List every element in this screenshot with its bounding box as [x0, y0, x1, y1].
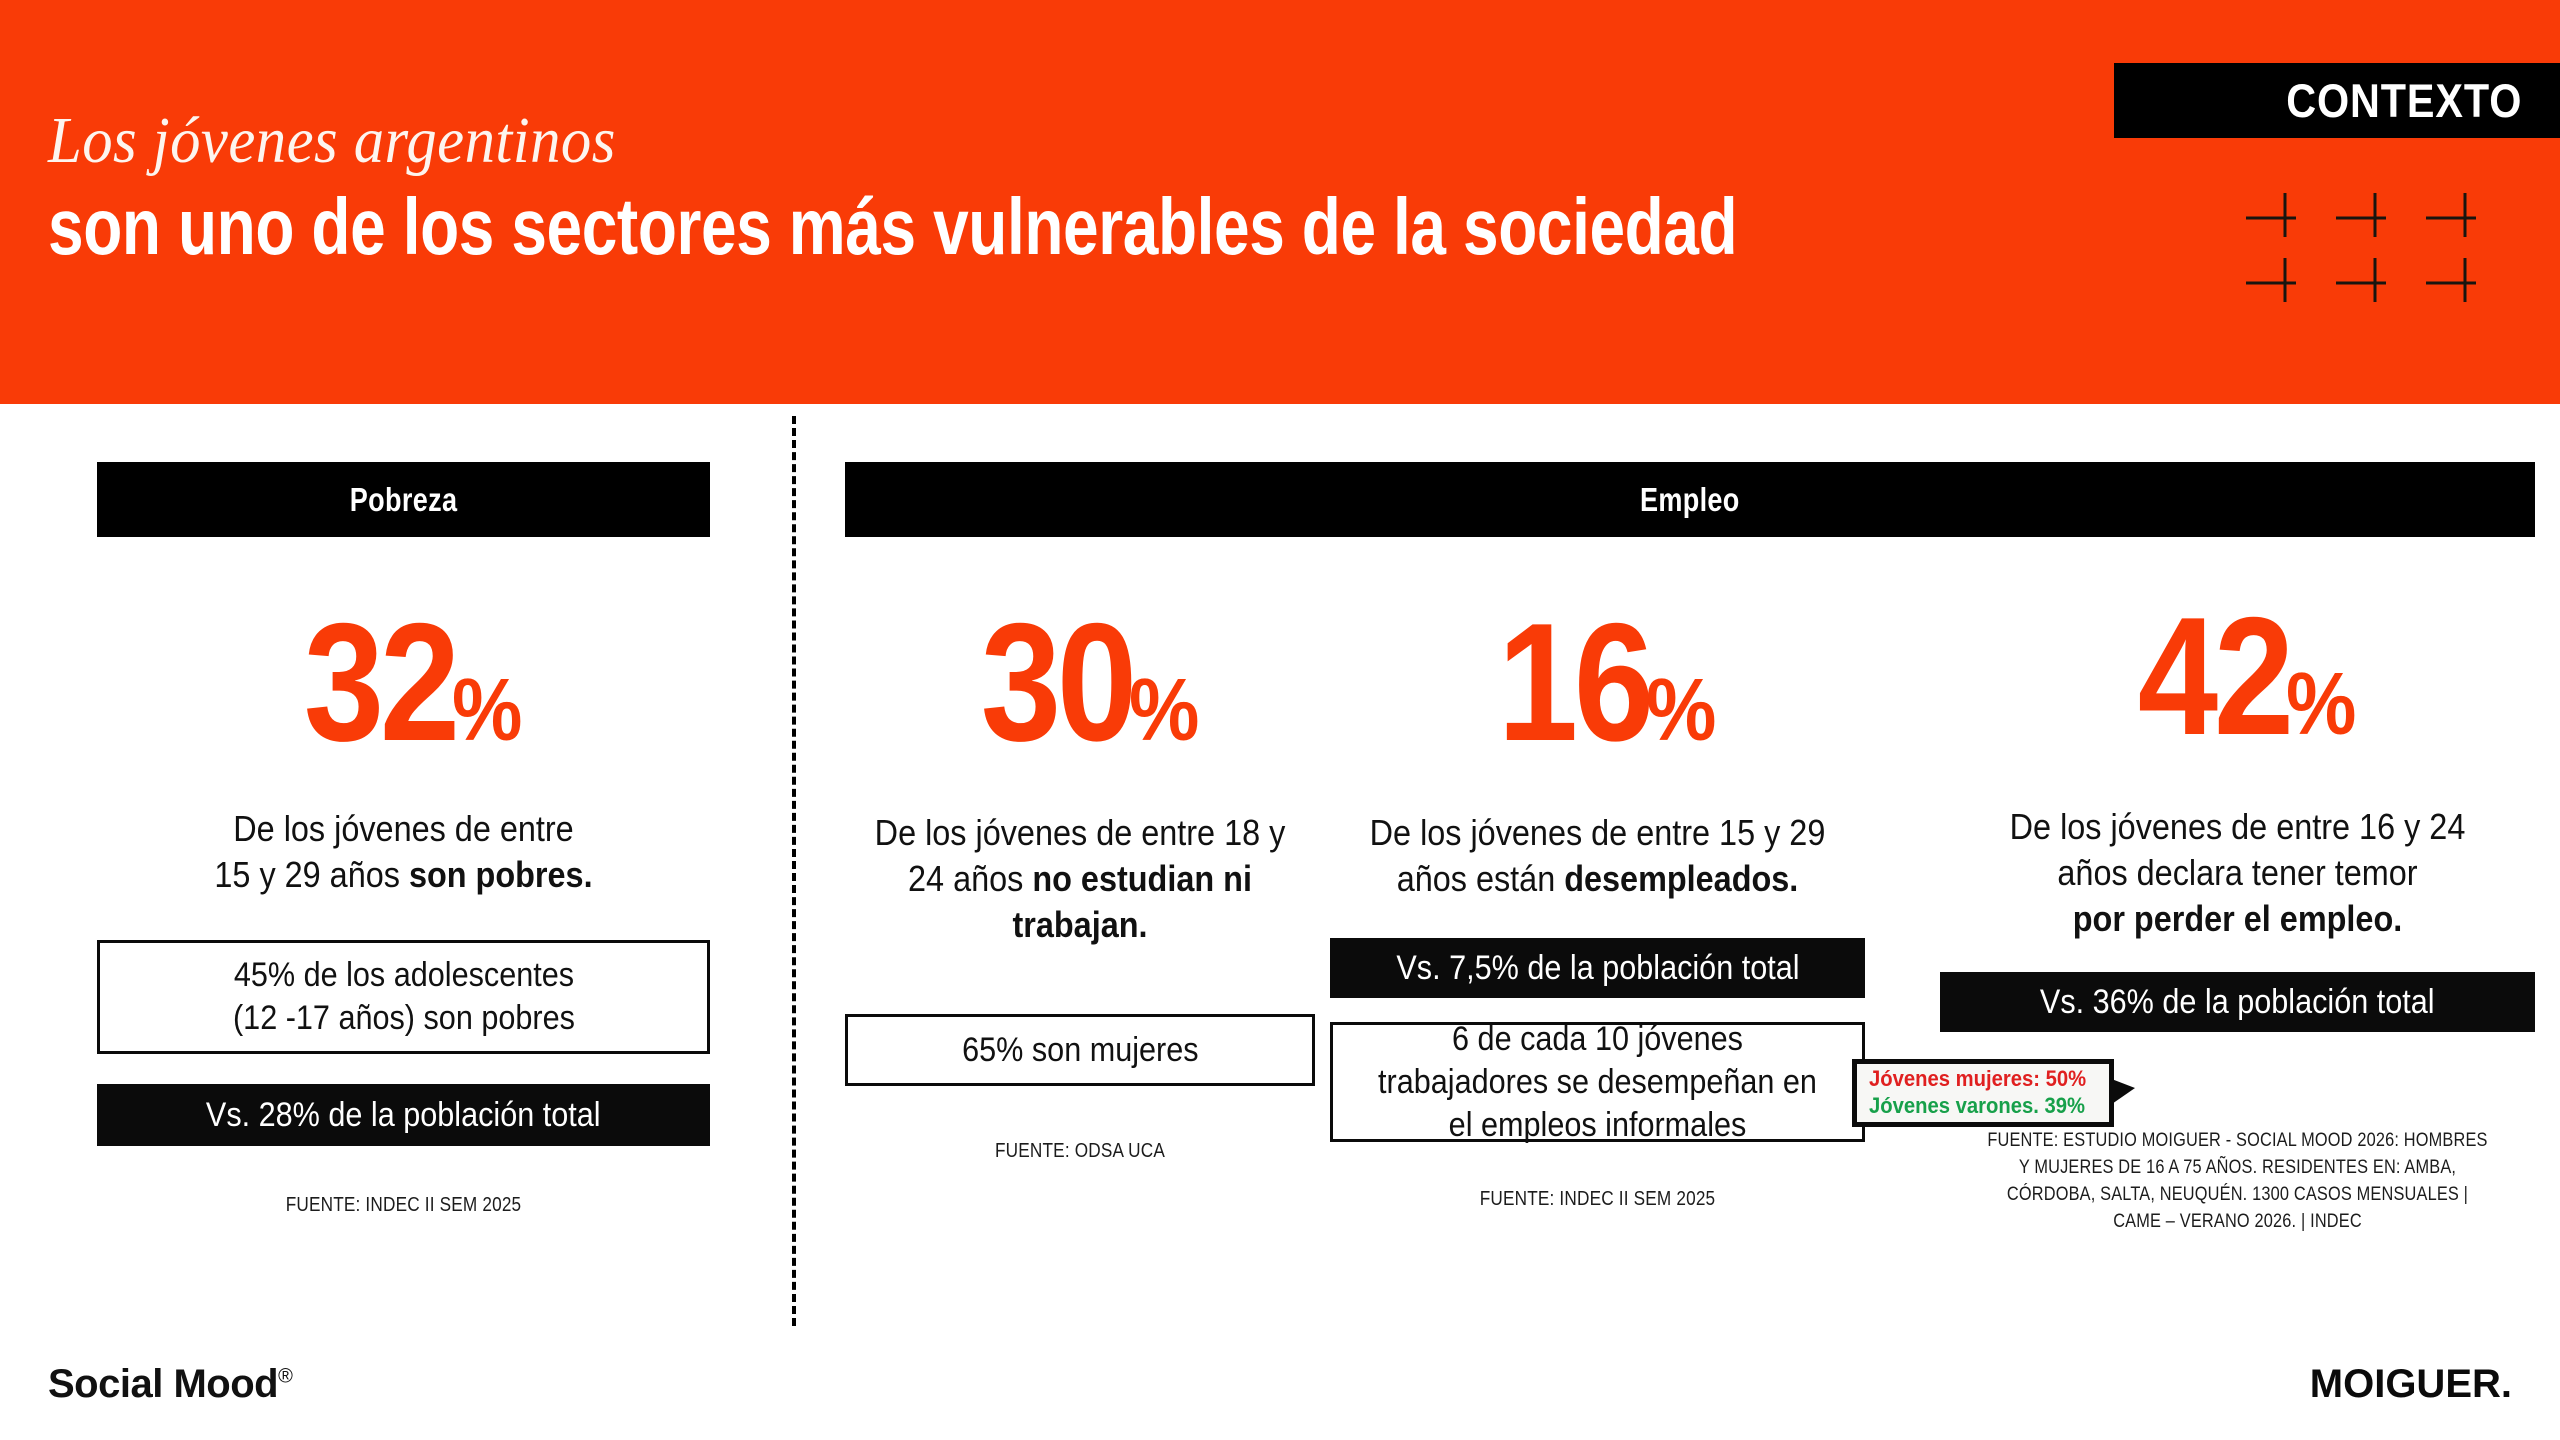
plus-icon	[2330, 250, 2420, 315]
source-note-nini: FUENTE: ODSA UCA	[878, 1138, 1282, 1165]
section-header-pobreza: Pobreza	[97, 462, 710, 537]
comparison-bar-temor-text: Vs. 36% de la población total	[2040, 981, 2435, 1024]
comparison-bar-pobreza: Vs. 28% de la población total	[97, 1084, 710, 1146]
page-title-main: son uno de los sectores más vulnerables …	[48, 188, 1568, 266]
stat-description-pobreza: De los jóvenes de entre 15 y 29 años son…	[128, 806, 680, 898]
plus-icon	[2240, 250, 2330, 315]
stat-number: 32	[304, 598, 456, 766]
callout-box-adolescentes-text: 45% de los adolescentes (12 -17 años) so…	[233, 954, 575, 1040]
callout-box-informales: 6 de cada 10 jóvenes trabajadores se des…	[1330, 1022, 1865, 1142]
stat-description-line2: años están	[1397, 858, 1565, 899]
stat-description-line1: De los jóvenes de entre	[233, 808, 573, 849]
callout-box-informales-text: 6 de cada 10 jóvenes trabajadores se des…	[1374, 1018, 1821, 1146]
comparison-bar-pobreza-text: Vs. 28% de la población total	[206, 1094, 601, 1137]
stat-column-temor: 42% De los jóvenes de entre 16 y 24 años…	[1940, 554, 2535, 1236]
section-header-pobreza-label: Pobreza	[350, 481, 458, 519]
plus-icon	[2420, 250, 2510, 315]
stat-value-nini: 30%	[845, 598, 1315, 766]
section-header-empleo: Empleo	[845, 462, 2535, 537]
stat-description-line1: De los jóvenes de entre 16 y 24	[2010, 806, 2466, 847]
plus-icon	[2420, 185, 2510, 250]
stat-column-desempleo: 16% De los jóvenes de entre 15 y 29 años…	[1330, 554, 1865, 1213]
stat-number: 30	[981, 598, 1133, 766]
stat-value-desempleo: 16%	[1330, 598, 1865, 766]
vertical-dashed-divider	[792, 416, 796, 1326]
stat-value-temor: 42%	[1940, 592, 2535, 760]
stat-description-line2: 24 años	[908, 858, 1032, 899]
registered-trademark-icon: ®	[278, 1366, 292, 1388]
percent-sign: %	[2286, 660, 2354, 748]
source-note-temor: FUENTE: ESTUDIO MOIGUER - SOCIAL MOOD 20…	[1982, 1128, 2494, 1236]
comparison-bar-temor: Vs. 36% de la población total	[1940, 972, 2535, 1032]
comparison-bar-desempleo: Vs. 7,5% de la población total	[1330, 938, 1865, 998]
section-header-empleo-label: Empleo	[1640, 481, 1740, 519]
callout-line-mujeres: Jóvenes mujeres: 50%	[1869, 1066, 2086, 1093]
logo-social-mood-text: Social Mood	[48, 1362, 278, 1406]
stat-description-line1: De los jóvenes de entre 18 y	[875, 812, 1286, 853]
stat-description-line2: 15 y 29 años	[214, 854, 409, 895]
comparison-bar-desempleo-text: Vs. 7,5% de la población total	[1396, 947, 1799, 990]
stat-description-temor: De los jóvenes de entre 16 y 24 años dec…	[1970, 804, 2506, 942]
stat-description-nini: De los jóvenes de entre 18 y 24 años no …	[869, 810, 1292, 948]
stat-description-bold: por perder el empleo.	[2073, 898, 2402, 939]
footer: Social Mood® MOIGUER.	[0, 1340, 2560, 1440]
source-note-desempleo: FUENTE: INDEC II SEM 2025	[1367, 1186, 1827, 1213]
callout-box-adolescentes: 45% de los adolescentes (12 -17 años) so…	[97, 940, 710, 1054]
title-block: Los jóvenes argentinos son uno de los se…	[48, 108, 1948, 266]
stat-column-pobreza: 32% De los jóvenes de entre 15 y 29 años…	[97, 554, 710, 1219]
callout-tail-icon	[2109, 1078, 2135, 1106]
percent-sign: %	[1646, 666, 1714, 754]
stat-description-desempleo: De los jóvenes de entre 15 y 29 años est…	[1357, 810, 1839, 902]
stat-number: 16	[1498, 598, 1650, 766]
stat-description-bold: no estudian ni trabajan.	[1012, 858, 1251, 945]
stat-column-nini: 30% De los jóvenes de entre 18 y 24 años…	[845, 554, 1315, 1165]
percent-sign: %	[1129, 666, 1197, 754]
callout-box-mujeres: 65% son mujeres	[845, 1014, 1315, 1086]
gender-breakdown-callout: Jóvenes mujeres: 50% Jóvenes varones. 39…	[1852, 1059, 2114, 1127]
contexto-badge-label: CONTEXTO	[2286, 73, 2522, 128]
plus-decoration-grid	[2240, 185, 2510, 315]
header-banner: Los jóvenes argentinos son uno de los se…	[0, 0, 2560, 404]
page-title-script: Los jóvenes argentinos	[48, 108, 1796, 174]
callout-line-varones: Jóvenes varones. 39%	[1869, 1093, 2085, 1120]
stat-description-line1: De los jóvenes de entre 15 y 29	[1370, 812, 1826, 853]
stat-description-bold: desempleados.	[1564, 858, 1798, 899]
stat-value-pobreza: 32%	[97, 598, 710, 766]
logo-social-mood: Social Mood®	[48, 1362, 292, 1407]
main-content: Pobreza Empleo 32% De los jóvenes de ent…	[0, 404, 2560, 1340]
infographic-page: Los jóvenes argentinos son uno de los se…	[0, 0, 2560, 1440]
logo-moiguer: MOIGUER.	[2310, 1362, 2512, 1407]
stat-description-line2: años declara tener temor	[2057, 852, 2417, 893]
stat-description-bold: son pobres.	[409, 854, 593, 895]
contexto-badge: CONTEXTO	[2114, 63, 2560, 138]
callout-box-mujeres-text: 65% son mujeres	[962, 1029, 1198, 1072]
source-note-pobreza: FUENTE: INDEC II SEM 2025	[140, 1192, 667, 1219]
plus-icon	[2240, 185, 2330, 250]
percent-sign: %	[452, 666, 520, 754]
stat-number: 42	[2138, 592, 2290, 760]
plus-icon	[2330, 185, 2420, 250]
